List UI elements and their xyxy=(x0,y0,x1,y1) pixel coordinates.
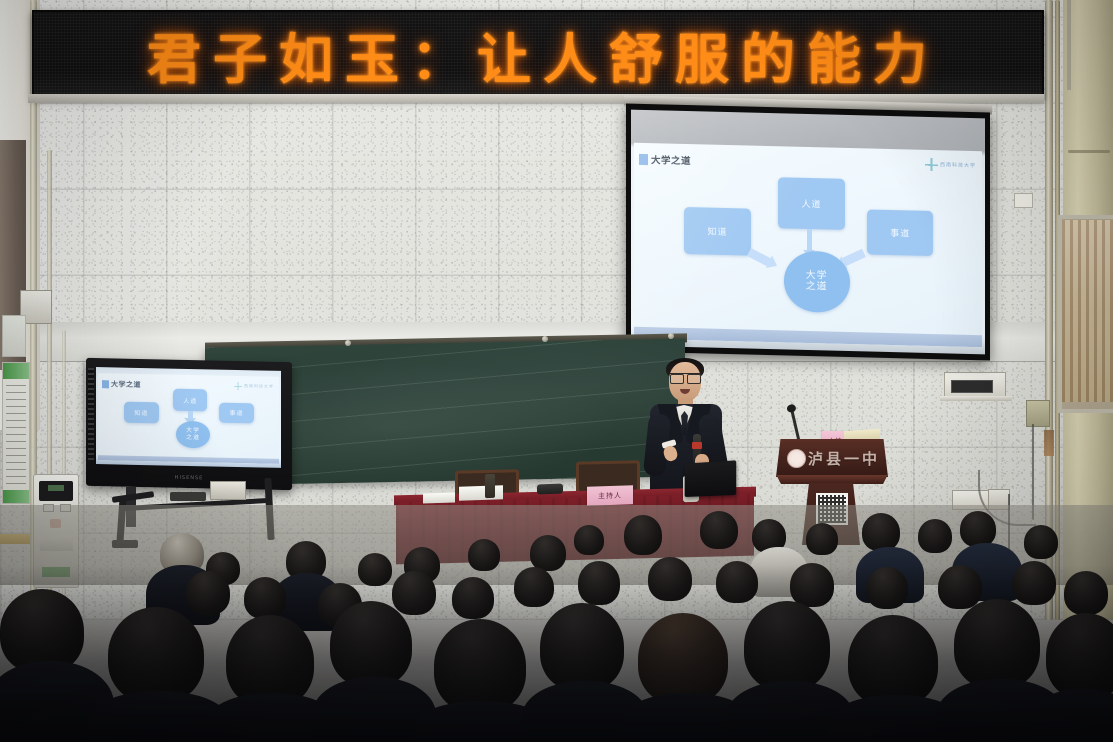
logo-text: 西南科技大学 xyxy=(940,161,976,169)
audience-head xyxy=(648,557,692,601)
tv-bezel-vents xyxy=(88,368,94,462)
audience-head xyxy=(1046,613,1113,699)
lecture-hall-photo: 君子如玉：让人舒服的能力 大学之道 西南科技大学 人道 知道 事道 大学 xyxy=(0,0,1113,742)
right-window-curtain xyxy=(1062,220,1113,402)
podium-school-name: 泸县一中 xyxy=(808,448,880,469)
junction-box xyxy=(1026,400,1050,427)
audience-head xyxy=(330,601,412,687)
media-player-box xyxy=(170,492,206,501)
slide-title-accent xyxy=(639,154,648,165)
tv-brand-logo: HISENSE xyxy=(175,475,204,482)
audience-head xyxy=(392,571,436,615)
diagram-node-rendao: 人道 xyxy=(778,178,844,231)
table-name-card: 主持人 xyxy=(587,485,633,506)
tv-diagram-node-rendao: 人道 xyxy=(173,388,207,411)
eyeglasses-icon xyxy=(670,373,701,383)
audience-head xyxy=(358,553,392,586)
audience-head xyxy=(954,599,1040,689)
audience-head xyxy=(244,577,286,619)
board-bolt-3 xyxy=(668,333,674,339)
meter-shelf xyxy=(940,396,1012,401)
tv-center-label-line2: 之道 xyxy=(186,435,200,442)
pipe-rust-patch xyxy=(1044,430,1054,456)
dispenser-display-panel xyxy=(39,481,73,501)
audience-head xyxy=(540,603,624,691)
tv-arrow-down-icon xyxy=(188,411,193,419)
poster-header-band xyxy=(3,363,29,379)
audience-head xyxy=(700,511,738,549)
table-papers-1 xyxy=(423,492,455,503)
tv-slide-title: 大学之道 xyxy=(111,379,141,390)
led-banner: 君子如玉：让人舒服的能力 xyxy=(32,10,1044,98)
audience-head xyxy=(848,615,938,707)
audience-head xyxy=(790,563,834,607)
slide-title: 大学之道 xyxy=(651,152,691,167)
presenter-laptop[interactable] xyxy=(685,460,737,497)
audience-head xyxy=(716,561,758,603)
diagram-node-center: 大学 之道 xyxy=(784,250,850,312)
center-label-line2: 之道 xyxy=(806,281,828,293)
tv-slide-canvas: 大学之道 西南科技大学 人道 知道 事道 大学 之道 xyxy=(98,373,279,464)
diagram-node-shidao: 事道 xyxy=(867,209,933,256)
diagram-node-zhidao: 知道 xyxy=(684,207,750,256)
tv-diagram-node-center: 大学 之道 xyxy=(176,421,210,449)
logo-mark-icon xyxy=(925,158,938,171)
audience-head xyxy=(1012,561,1056,605)
audience-head xyxy=(806,523,838,555)
audience-head xyxy=(578,561,620,605)
equipment-box xyxy=(210,481,246,500)
tv-diagram-node-zhidao: 知道 xyxy=(124,401,158,423)
table-papers-2 xyxy=(459,485,503,501)
audience-head xyxy=(514,567,554,607)
audience-head xyxy=(744,601,830,691)
audience-head xyxy=(530,535,566,571)
audience-head xyxy=(624,515,662,555)
board-bolt-1 xyxy=(345,340,351,346)
tv-screen-surface: 大学之道 西南科技大学 人道 知道 事道 大学 之道 xyxy=(96,367,281,468)
projection-screen: 大学之道 西南科技大学 人道 知道 事道 大学 之道 xyxy=(626,104,990,361)
school-crest-icon xyxy=(787,449,806,468)
tv-slide-title-accent xyxy=(102,380,109,388)
projection-screen-surface: 大学之道 西南科技大学 人道 知道 事道 大学 之道 xyxy=(631,110,985,355)
audience-head xyxy=(862,513,900,551)
tv-logo-mark-icon xyxy=(234,382,242,390)
ceiling-rod xyxy=(1067,0,1071,90)
led-banner-text: 君子如玉：让人舒服的能力 xyxy=(137,15,939,94)
audience-head xyxy=(918,519,952,553)
wall-poster xyxy=(2,362,30,504)
audience-head xyxy=(434,619,526,713)
tv-logo-text: 西南科技大学 xyxy=(244,383,274,390)
arrow-down-right-icon xyxy=(842,249,866,266)
wall-switch[interactable] xyxy=(1014,193,1033,208)
flat-panel-tv[interactable]: 大学之道 西南科技大学 人道 知道 事道 大学 之道 HISENSE xyxy=(86,358,292,490)
table-bottle xyxy=(485,474,495,498)
tv-diagram-node-shidao: 事道 xyxy=(219,403,253,424)
student-audience xyxy=(0,505,1113,742)
arrow-down-icon xyxy=(807,229,812,251)
center-label-line1: 大学 xyxy=(806,270,828,282)
audience-head xyxy=(638,613,728,705)
audience-head xyxy=(960,511,996,547)
audience-head xyxy=(866,567,908,609)
tv-university-logo: 西南科技大学 xyxy=(234,382,274,391)
table-microphone-base xyxy=(537,484,563,495)
university-logo: 西南科技大学 xyxy=(925,158,976,172)
tv-slide-footer-band xyxy=(98,455,279,464)
board-bolt-2 xyxy=(542,336,548,342)
audience-head xyxy=(186,571,230,615)
arrow-down-left-icon xyxy=(747,248,771,266)
wall-notice-small xyxy=(2,315,26,357)
poster-footer-band xyxy=(3,490,29,503)
audience-head xyxy=(108,607,204,703)
audience-head xyxy=(1024,525,1058,559)
audience-head xyxy=(938,565,982,609)
column-ring-1 xyxy=(1068,150,1110,153)
audience-head xyxy=(452,577,494,619)
poster-text-lines xyxy=(6,385,26,485)
slide-canvas: 大学之道 西南科技大学 人道 知道 事道 大学 之道 xyxy=(634,143,982,347)
audience-head xyxy=(574,525,604,555)
podium-lip xyxy=(774,475,890,484)
audience-head xyxy=(1064,571,1108,615)
audience-head xyxy=(468,539,500,571)
